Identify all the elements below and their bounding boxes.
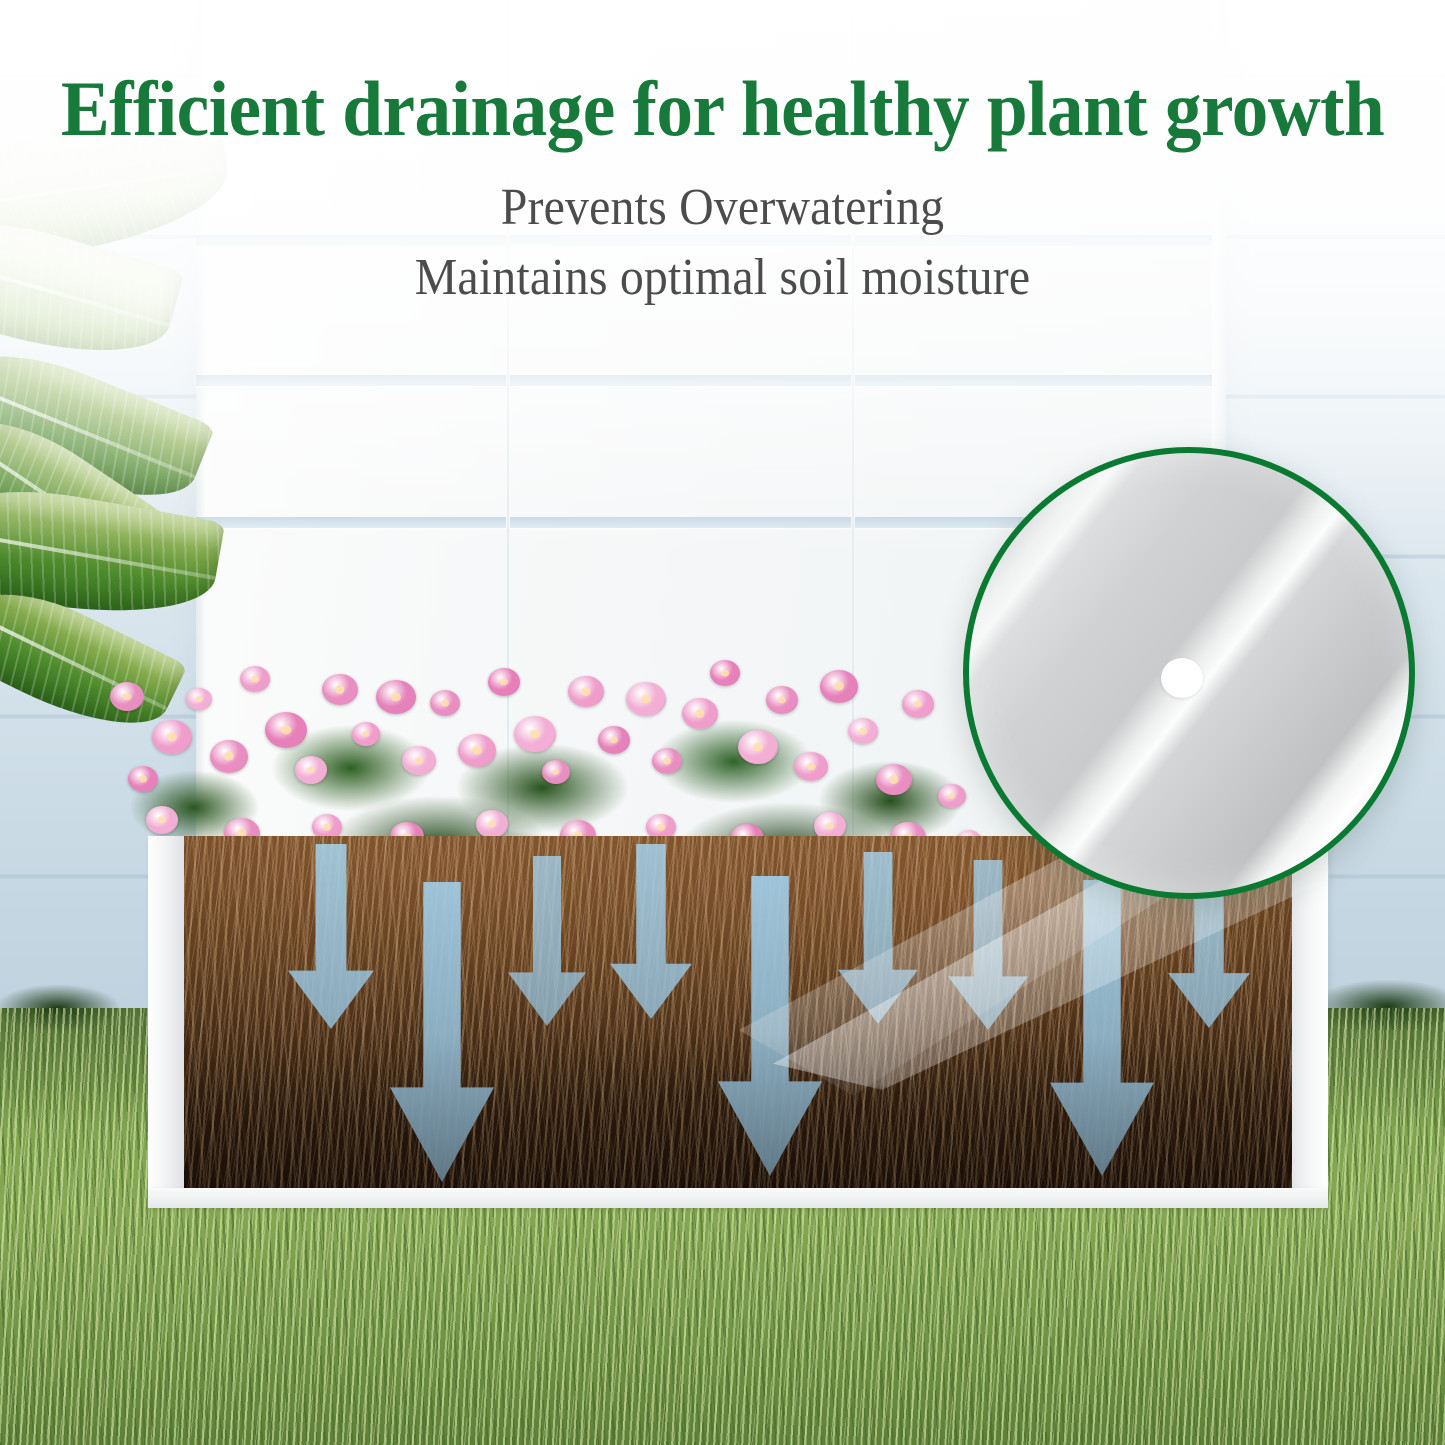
- rose-bloom: [210, 740, 248, 773]
- rose-bloom: [568, 676, 604, 707]
- planter-left-post: [148, 836, 184, 1196]
- rose-bloom: [820, 670, 858, 703]
- rose-bloom: [542, 760, 570, 784]
- page-title: Efficient drainage for healthy plant gro…: [43, 70, 1401, 148]
- rose-bloom: [322, 674, 358, 705]
- rose-bloom: [458, 734, 496, 767]
- rose-bloom: [514, 716, 556, 752]
- rose-bloom: [240, 666, 270, 692]
- rose-bloom: [902, 690, 934, 718]
- rose-bloom: [794, 752, 828, 781]
- rose-bloom: [938, 784, 966, 808]
- rose-bloom: [876, 764, 912, 795]
- rose-bloom: [146, 806, 178, 834]
- rose-bloom: [598, 726, 630, 754]
- planter-bottom-rail: [148, 1188, 1328, 1208]
- drainage-hole-magnifier[interactable]: [963, 447, 1415, 899]
- rose-bloom: [488, 668, 520, 696]
- rose-bloom: [682, 698, 718, 729]
- rose-bloom: [848, 718, 878, 744]
- rose-bloom: [766, 686, 798, 714]
- rose-bloom: [110, 682, 144, 711]
- rose-bloom: [652, 748, 682, 774]
- rose-bloom: [128, 766, 158, 792]
- rose-bloom: [265, 712, 307, 748]
- rose-bloom: [710, 660, 740, 686]
- product-feature-image: Efficient drainage for healthy plant gro…: [0, 0, 1445, 1445]
- rose-bloom: [476, 810, 508, 838]
- subheading-prevents-overwatering: Prevents Overwatering: [58, 182, 1387, 234]
- rose-bloom: [430, 690, 460, 716]
- drainage-hole: [1161, 658, 1203, 698]
- rose-bloom: [295, 756, 327, 784]
- subheading-maintains-moisture: Maintains optimal soil moisture: [58, 252, 1387, 304]
- rose-bloom: [352, 722, 380, 746]
- rose-bloom: [402, 746, 436, 775]
